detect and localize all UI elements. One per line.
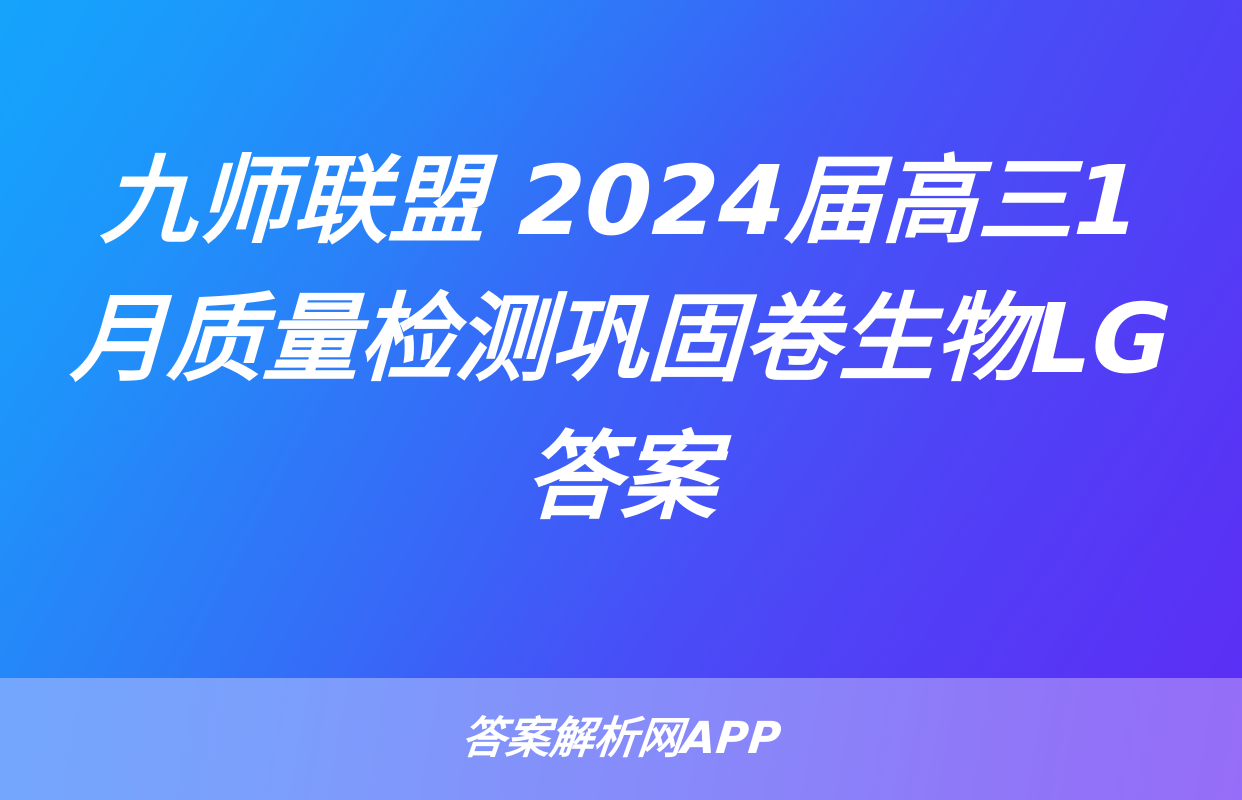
footer-watermark-band: 答案解析网APP [0,678,1242,800]
title-line-1: 九师联盟 2024届高三1 [99,132,1143,270]
title-line-2: 月质量检测巩固卷生物LG [69,270,1174,408]
app-watermark-label: 答案解析网APP [459,717,782,761]
title-block: 九师联盟 2024届高三1 月质量检测巩固卷生物LG 答案 [0,0,1242,678]
answer-card: 九师联盟 2024届高三1 月质量检测巩固卷生物LG 答案 答案解析网APP [0,0,1242,800]
title-line-3: 答案 [523,408,720,546]
